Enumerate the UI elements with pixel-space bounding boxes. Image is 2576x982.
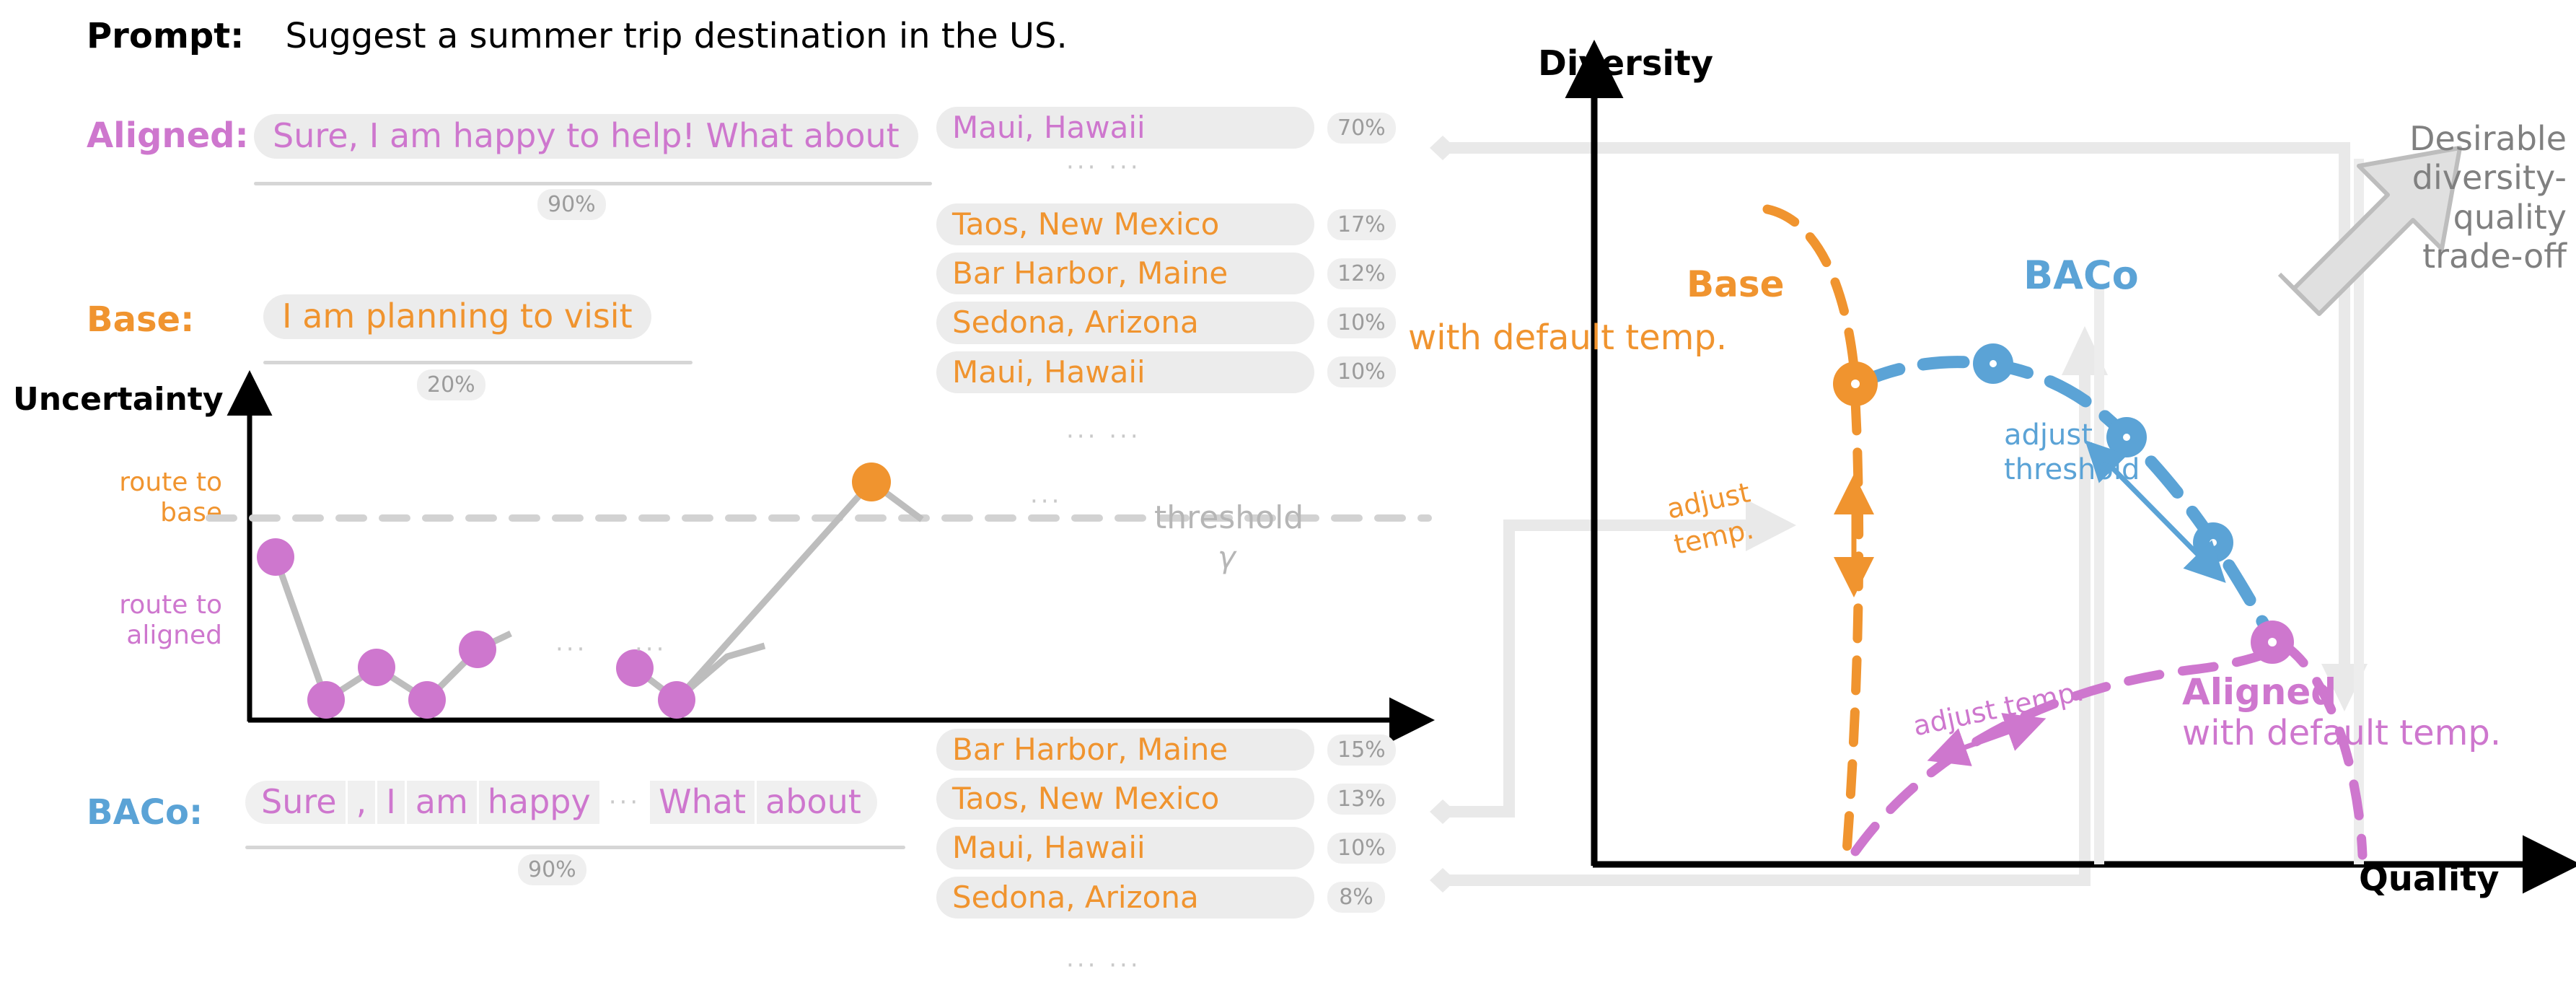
adjust-threshold-line1: adjust xyxy=(2004,418,2093,452)
baco-point-center xyxy=(2123,434,2130,441)
list-item: Bar Harbor, Maine 12% xyxy=(936,253,1396,294)
prompt-text: Suggest a summer trip destination in the… xyxy=(285,16,1067,56)
desirable-line-2: diversity- xyxy=(2365,158,2567,197)
baco-destination-list: Bar Harbor, Maine 15% Taos, New Mexico 1… xyxy=(936,729,1396,919)
destination-name: Taos, New Mexico xyxy=(936,778,1314,820)
destination-name: Maui, Hawaii xyxy=(936,827,1314,869)
aligned-confidence: 90% xyxy=(537,189,606,220)
token-chip: I xyxy=(377,781,405,824)
base-response-chip: I am planning to visit xyxy=(263,294,651,339)
token-chip: , xyxy=(348,781,376,824)
destination-name: Bar Harbor, Maine xyxy=(936,729,1314,771)
route-to-base-label-line2: base xyxy=(107,498,222,527)
route-to-base-label-line1: route to xyxy=(107,468,222,497)
uncertainty-point xyxy=(459,631,496,668)
baco-point-center xyxy=(2210,539,2217,546)
destination-pct: 10% xyxy=(1327,356,1396,387)
aligned-destination-row: Maui, Hawaii 70% xyxy=(936,107,1396,149)
token-chip: Sure xyxy=(245,781,346,824)
list-item: Maui, Hawaii 10% xyxy=(936,351,1396,393)
uncertainty-point xyxy=(658,681,695,719)
aligned-underline xyxy=(254,182,932,185)
baco-point-center xyxy=(1990,360,1997,367)
destination-pct: 70% xyxy=(1327,113,1396,144)
destination-name: Bar Harbor, Maine xyxy=(936,253,1314,294)
token-chip: am xyxy=(407,781,477,824)
list-item: Taos, New Mexico 17% xyxy=(936,203,1396,245)
uncertainty-point xyxy=(408,681,446,719)
destination-pct: 10% xyxy=(1327,833,1396,864)
baco-tokens-ellipsis: ··· xyxy=(609,788,641,817)
destination-pct: 13% xyxy=(1327,784,1396,815)
uncertainty-point xyxy=(307,681,345,719)
aligned-point-center xyxy=(2268,638,2277,646)
aligned-role-label: Aligned: xyxy=(87,115,249,156)
base-underline xyxy=(263,361,693,364)
uncertainty-point xyxy=(358,649,395,686)
destination-pct: 15% xyxy=(1327,735,1396,766)
aligned-curve-label: Aligned xyxy=(2182,671,2337,713)
desirable-line-3: quality xyxy=(2365,198,2567,237)
destination-name: Sedona, Arizona xyxy=(936,302,1314,343)
baco-response-tokens: Sure , I am happy ··· What about xyxy=(245,781,877,824)
prompt-label: Prompt: xyxy=(87,16,244,56)
list-item: Taos, New Mexico 13% xyxy=(936,778,1396,820)
destination-pct: 8% xyxy=(1327,882,1385,913)
baco-destinations-ellipsis: ··· ··· xyxy=(1066,951,1141,980)
destination-name: Sedona, Arizona xyxy=(936,877,1314,919)
list-item: Bar Harbor, Maine 15% xyxy=(936,729,1396,771)
desirable-line-4: trade-off xyxy=(2365,237,2567,276)
threshold-gamma-symbol: γ xyxy=(1218,540,1236,575)
base-destination-list: Taos, New Mexico 17% Bar Harbor, Maine 1… xyxy=(936,203,1396,393)
aligned-destinations-ellipsis: ··· ··· xyxy=(1066,153,1141,182)
uncertainty-polyline xyxy=(276,557,511,700)
uncertainty-point-base xyxy=(852,462,891,501)
prompt-row: Prompt: Suggest a summer trip destinatio… xyxy=(87,16,1068,56)
destination-name: Maui, Hawaii xyxy=(936,107,1314,149)
adjust-threshold-line2: threshold xyxy=(2004,453,2140,486)
list-item: Sedona, Arizona 8% xyxy=(936,877,1396,919)
baco-confidence: 90% xyxy=(518,854,586,885)
destination-pct: 12% xyxy=(1327,258,1396,289)
route-to-aligned-label-line1: route to xyxy=(107,590,222,620)
destination-name: Maui, Hawaii xyxy=(936,351,1314,393)
aligned-response-text: Sure, I am happy to help! What about xyxy=(254,114,918,159)
base-point-center xyxy=(1851,380,1860,388)
desirable-line-1: Desirable xyxy=(2365,119,2567,158)
desirable-tradeoff-note: Desirable diversity- quality trade-off xyxy=(2365,119,2567,276)
token-chip: happy xyxy=(479,781,599,824)
connector-aligned-diamond xyxy=(1430,136,1456,160)
connector-baco-diamond xyxy=(1430,868,1456,893)
destination-pct: 10% xyxy=(1327,307,1396,338)
destination-pct: 17% xyxy=(1327,209,1396,240)
base-role-label: Base: xyxy=(87,299,194,340)
baco-curve xyxy=(1861,362,2267,629)
list-item: Maui, Hawaii 10% xyxy=(936,827,1396,869)
baco-confidence-value: 90% xyxy=(518,854,586,885)
aligned-curve-sublabel: with default temp. xyxy=(2182,713,2501,753)
uncertainty-chart-svg xyxy=(216,390,1428,736)
token-chip: What xyxy=(650,781,755,824)
base-curve-sublabel: with default temp. xyxy=(1408,317,1727,358)
base-curve-label: Base xyxy=(1687,263,1785,305)
list-item: Sedona, Arizona 10% xyxy=(936,302,1396,343)
token-chip: about xyxy=(757,781,877,824)
aligned-confidence-value: 90% xyxy=(537,189,606,220)
baco-role-label: BACo: xyxy=(87,792,203,833)
base-response-text: I am planning to visit xyxy=(263,294,651,339)
uncertainty-ellipsis-end: ··· xyxy=(1030,487,1062,516)
route-to-aligned-label-line2: aligned xyxy=(107,621,222,650)
aligned-response-chip: Sure, I am happy to help! What about xyxy=(254,114,918,159)
baco-underline xyxy=(245,846,905,849)
destination-name: Taos, New Mexico xyxy=(936,203,1314,245)
connector-base-diamond xyxy=(1430,799,1456,824)
uncertainty-point xyxy=(257,538,294,576)
base-curve-lower xyxy=(1847,400,1859,851)
threshold-label: threshold xyxy=(1154,499,1304,536)
uncertainty-ellipsis-1: ··· xyxy=(555,635,587,664)
uncertainty-axis-label: Uncertainty xyxy=(13,381,224,418)
baco-curve-label: BACo xyxy=(2023,253,2139,298)
uncertainty-ellipsis-2: ··· xyxy=(635,635,667,664)
